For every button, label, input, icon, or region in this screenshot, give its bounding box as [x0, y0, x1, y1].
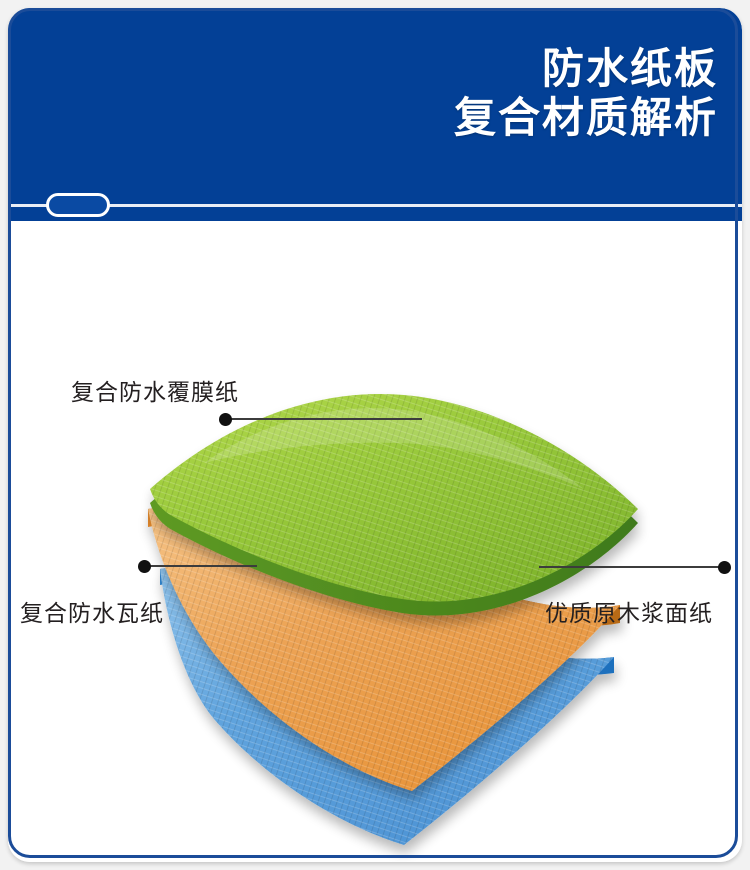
leader-dot-left [138, 560, 151, 573]
header-divider-rule [8, 204, 742, 207]
header-banner: 防水纸板 复合材质解析 [8, 8, 742, 221]
product-detail-card: 防水纸板 复合材质解析 [8, 8, 742, 862]
callout-label-bottom-layer: 优质原木浆面纸 [545, 594, 713, 628]
layer-diagram [8, 221, 742, 862]
header-accent-pill [46, 193, 110, 217]
content-body: 复合防水覆膜纸 复合防水瓦纸 优质原木浆面纸 [8, 221, 742, 862]
leader-dot-right [718, 561, 731, 574]
page-title: 防水纸板 复合材质解析 [454, 44, 718, 142]
leader-line-top [230, 418, 422, 420]
layer-diagram-svg [8, 221, 742, 862]
page-title-line-2: 复合材质解析 [454, 93, 718, 142]
callout-label-middle-layer: 复合防水瓦纸 [20, 594, 164, 628]
leader-dot-top [219, 413, 232, 426]
leader-line-left [149, 565, 257, 567]
page-root: 防水纸板 复合材质解析 [0, 0, 750, 870]
leader-line-right [539, 566, 725, 568]
callout-label-top-layer: 复合防水覆膜纸 [71, 373, 239, 407]
page-title-line-1: 防水纸板 [542, 44, 718, 93]
